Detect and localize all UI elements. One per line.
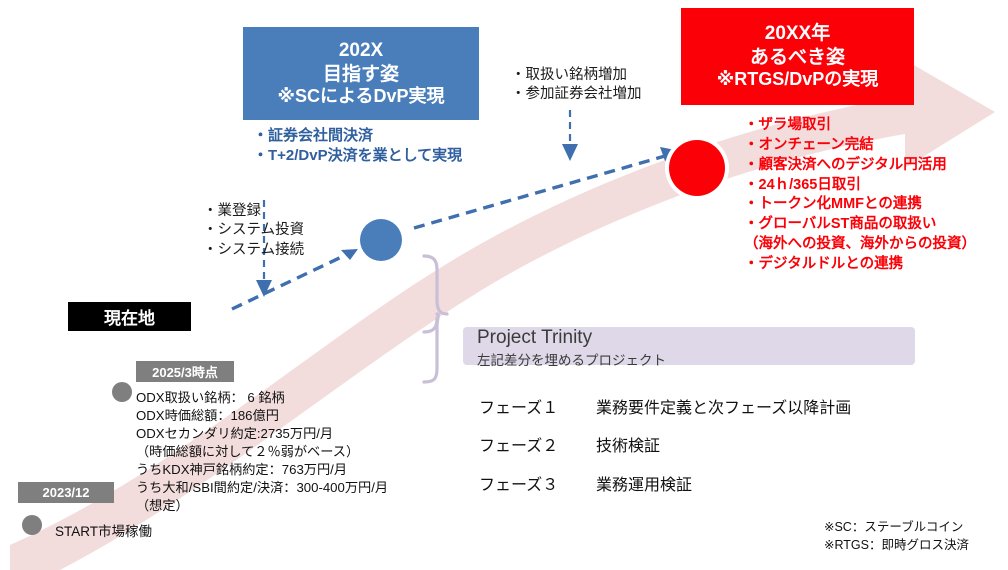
milestone-node-target-red	[665, 136, 729, 200]
date-badge-2023: 2023/12	[18, 482, 114, 503]
timeline-dot-2023	[22, 515, 42, 535]
project-trinity-title: Project Trinity	[477, 327, 592, 349]
start-market-launch-label: START市場稼働	[55, 520, 152, 540]
goal-box-202x: 202X 目指す姿 ※SCによるDvP実現	[243, 27, 479, 120]
phase-2-description: 技術検証	[596, 432, 660, 456]
note-202x-requirements: ・証券会社間決済 ・T+2/DvP決済を業として実現	[253, 126, 462, 166]
note-target-state-features: ・ザラ場取引 ・オンチェーン完結 ・顧客決済へのデジタル円活用 ・24ｈ/365…	[744, 116, 976, 275]
goal-box-202x-detail: ※SCによるDvP実現	[278, 86, 445, 108]
phase-3-name: フェーズ３	[479, 471, 558, 495]
goal-box-20xx-year: 20XX年	[765, 22, 830, 45]
phase-2-name: フェーズ２	[479, 432, 558, 456]
phase-1-description: 業務要件定義と次フェーズ以降計画	[596, 394, 851, 418]
roadmap-diagram: 202X 目指す姿 ※SCによるDvP実現 20XX年 あるべき姿 ※RTGS/…	[0, 0, 1008, 570]
timeline-dot-2025	[112, 382, 132, 402]
note-growth-drivers: ・取扱い銘柄増加 ・参加証券会社増加	[511, 66, 642, 105]
note-entry-requirements: ・業登録 ・システム投資 ・システム接続	[203, 202, 304, 260]
goal-box-20xx: 20XX年 あるべき姿 ※RTGS/DvPの実現	[681, 8, 914, 105]
goal-box-202x-year: 202X	[339, 39, 383, 62]
project-trinity-subtitle: 左記差分を埋めるプロジェクト	[477, 349, 666, 369]
phase-1-name: フェーズ１	[479, 394, 558, 418]
current-metrics-block: ODX取扱い銘柄： 6 銘柄 ODX時価総額：186億円 ODXセカンダリ約定:…	[136, 389, 388, 515]
abbreviation-footnotes: ※SC：ステーブルコイン ※RTGS：即時グロス決済	[824, 519, 969, 554]
milestone-node-2025-blue	[356, 215, 406, 265]
goal-box-202x-subtitle: 目指す姿	[323, 63, 399, 86]
goal-box-20xx-detail: ※RTGS/DvPの実現	[717, 69, 879, 91]
phase-3-description: 業務運用検証	[596, 471, 692, 495]
current-position-label: 現在地	[68, 302, 191, 331]
goal-box-20xx-subtitle: あるべき姿	[750, 46, 845, 69]
date-badge-2025: 2025/3時点	[136, 361, 234, 382]
